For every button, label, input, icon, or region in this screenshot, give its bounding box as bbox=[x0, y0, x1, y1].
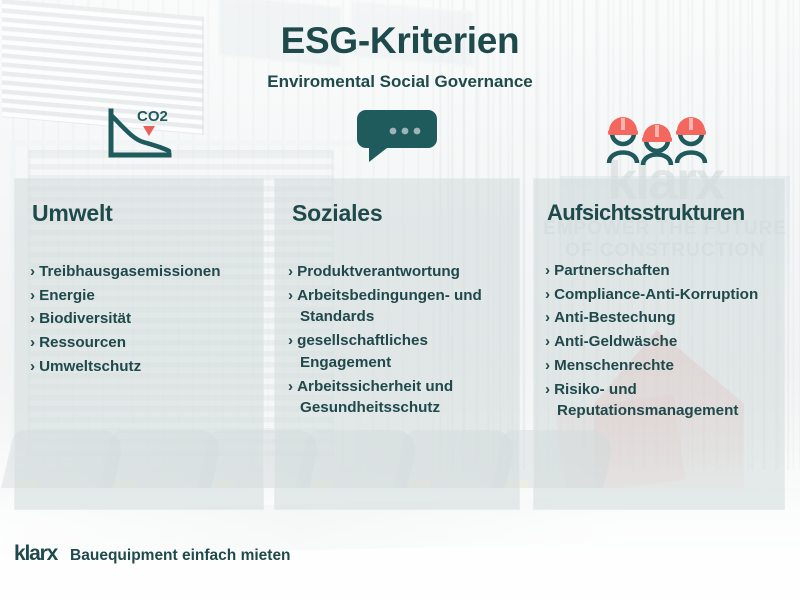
list-item: ›gesellschaftliches Engagement bbox=[288, 330, 520, 373]
chevron-right-icon: › bbox=[545, 309, 550, 326]
list-item-label: Partnerschaften bbox=[554, 262, 670, 279]
esg-criteria-poster: klarx EMPOWER THE FUTURE OF CONSTRUCTION… bbox=[0, 0, 800, 600]
list-item-label: gesellschaftliches Engagement bbox=[297, 332, 428, 371]
poster-header: ESG-Kriterien Enviromental Social Govern… bbox=[0, 22, 800, 92]
list-item-label: Treibhausgasemissionen bbox=[39, 263, 220, 280]
chevron-right-icon: › bbox=[288, 378, 293, 395]
list-item-label: Biodiversität bbox=[39, 310, 131, 327]
footer-tagline: Bauequipment einfach mieten bbox=[70, 547, 290, 565]
list-item: ›Biodiversität bbox=[30, 308, 264, 330]
list-item-label: Menschenrechte bbox=[554, 357, 674, 374]
chevron-right-icon: › bbox=[545, 381, 550, 398]
chevron-right-icon: › bbox=[545, 333, 550, 350]
page-title: ESG-Kriterien bbox=[0, 22, 800, 61]
list-item-label: Compliance-Anti-Korruption bbox=[554, 286, 758, 303]
list-item: ›Produktverantwortung bbox=[288, 261, 520, 283]
chevron-right-icon: › bbox=[545, 286, 550, 303]
list-item: ›Arbeitssicherheit und Gesundheitsschutz bbox=[288, 376, 520, 419]
list-item: ›Ressourcen bbox=[30, 332, 264, 354]
footer-branding: klarx Bauequipment einfach mieten bbox=[14, 542, 291, 566]
column-heading-umwelt: Umwelt bbox=[32, 200, 264, 227]
list-item: ›Menschenrechte bbox=[545, 355, 785, 377]
list-item: ›Arbeitsbedingungen- und Standards bbox=[288, 285, 520, 328]
list-item: ›Treibhausgasemissionen bbox=[30, 261, 264, 283]
list-item-label: Produktverantwortung bbox=[297, 263, 460, 280]
chevron-right-icon: › bbox=[30, 287, 35, 304]
chevron-right-icon: › bbox=[545, 357, 550, 374]
list-item-label: Arbeitsbedingungen- und Standards bbox=[297, 287, 482, 326]
chevron-right-icon: › bbox=[30, 358, 35, 375]
column-card-aufsichtsstrukturen: Aufsichtsstrukturen ›Partnerschaften ›Co… bbox=[533, 178, 785, 510]
column-heading-aufsichtsstrukturen: Aufsichtsstrukturen bbox=[547, 200, 785, 226]
list-item-label: Ressourcen bbox=[39, 334, 126, 351]
list-item: ›Anti-Geldwäsche bbox=[545, 331, 785, 353]
list-item: ›Partnerschaften bbox=[545, 260, 785, 282]
list-item: ›Umweltschutz bbox=[30, 356, 264, 378]
icon-slot-soziales bbox=[274, 104, 520, 168]
speech-bubble-icon bbox=[353, 108, 441, 164]
chevron-right-icon: › bbox=[30, 310, 35, 327]
list-item: ›Compliance-Anti-Korruption bbox=[545, 284, 785, 306]
column-card-umwelt: Umwelt ›Treibhausgasemissionen ›Energie … bbox=[14, 178, 264, 510]
chevron-right-icon: › bbox=[288, 287, 293, 304]
list-item-label: Anti-Bestechung bbox=[554, 309, 676, 326]
icon-slot-aufsichtsstrukturen bbox=[533, 104, 785, 168]
column-card-soziales: Soziales ›Produktverantwortung ›Arbeitsb… bbox=[274, 178, 520, 510]
klarx-logo: klarx bbox=[14, 542, 57, 566]
three-workers-helmets-icon bbox=[603, 107, 715, 165]
list-item-label: Arbeitssicherheit und Gesundheitsschutz bbox=[297, 378, 453, 417]
list-item-label: Umweltschutz bbox=[39, 358, 141, 375]
list-item-label: Anti-Geldwäsche bbox=[554, 333, 677, 350]
list-item: ›Energie bbox=[30, 285, 264, 307]
chevron-right-icon: › bbox=[288, 332, 293, 349]
list-item: ›Anti-Bestechung bbox=[545, 307, 785, 329]
chevron-right-icon: › bbox=[30, 334, 35, 351]
chevron-right-icon: › bbox=[545, 262, 550, 279]
icon-slot-umwelt: CO2 bbox=[14, 104, 264, 168]
co2-declining-chart-icon: CO2 bbox=[103, 107, 175, 165]
page-subtitle: Enviromental Social Governance bbox=[0, 72, 800, 92]
column-list-soziales: ›Produktverantwortung ›Arbeitsbedingunge… bbox=[288, 261, 520, 419]
chevron-right-icon: › bbox=[30, 263, 35, 280]
svg-text:CO2: CO2 bbox=[137, 108, 168, 125]
list-item-label: Energie bbox=[39, 287, 95, 304]
chevron-right-icon: › bbox=[288, 263, 293, 280]
column-list-umwelt: ›Treibhausgasemissionen ›Energie ›Biodiv… bbox=[30, 261, 264, 378]
column-heading-soziales: Soziales bbox=[292, 200, 520, 227]
column-list-aufsichtsstrukturen: ›Partnerschaften ›Compliance-Anti-Korrup… bbox=[545, 260, 785, 422]
list-item-label: Risiko- und Reputationsmanagement bbox=[554, 381, 738, 420]
list-item: ›Risiko- und Reputationsmanagement bbox=[545, 379, 785, 422]
icon-row: CO2 bbox=[0, 104, 800, 168]
